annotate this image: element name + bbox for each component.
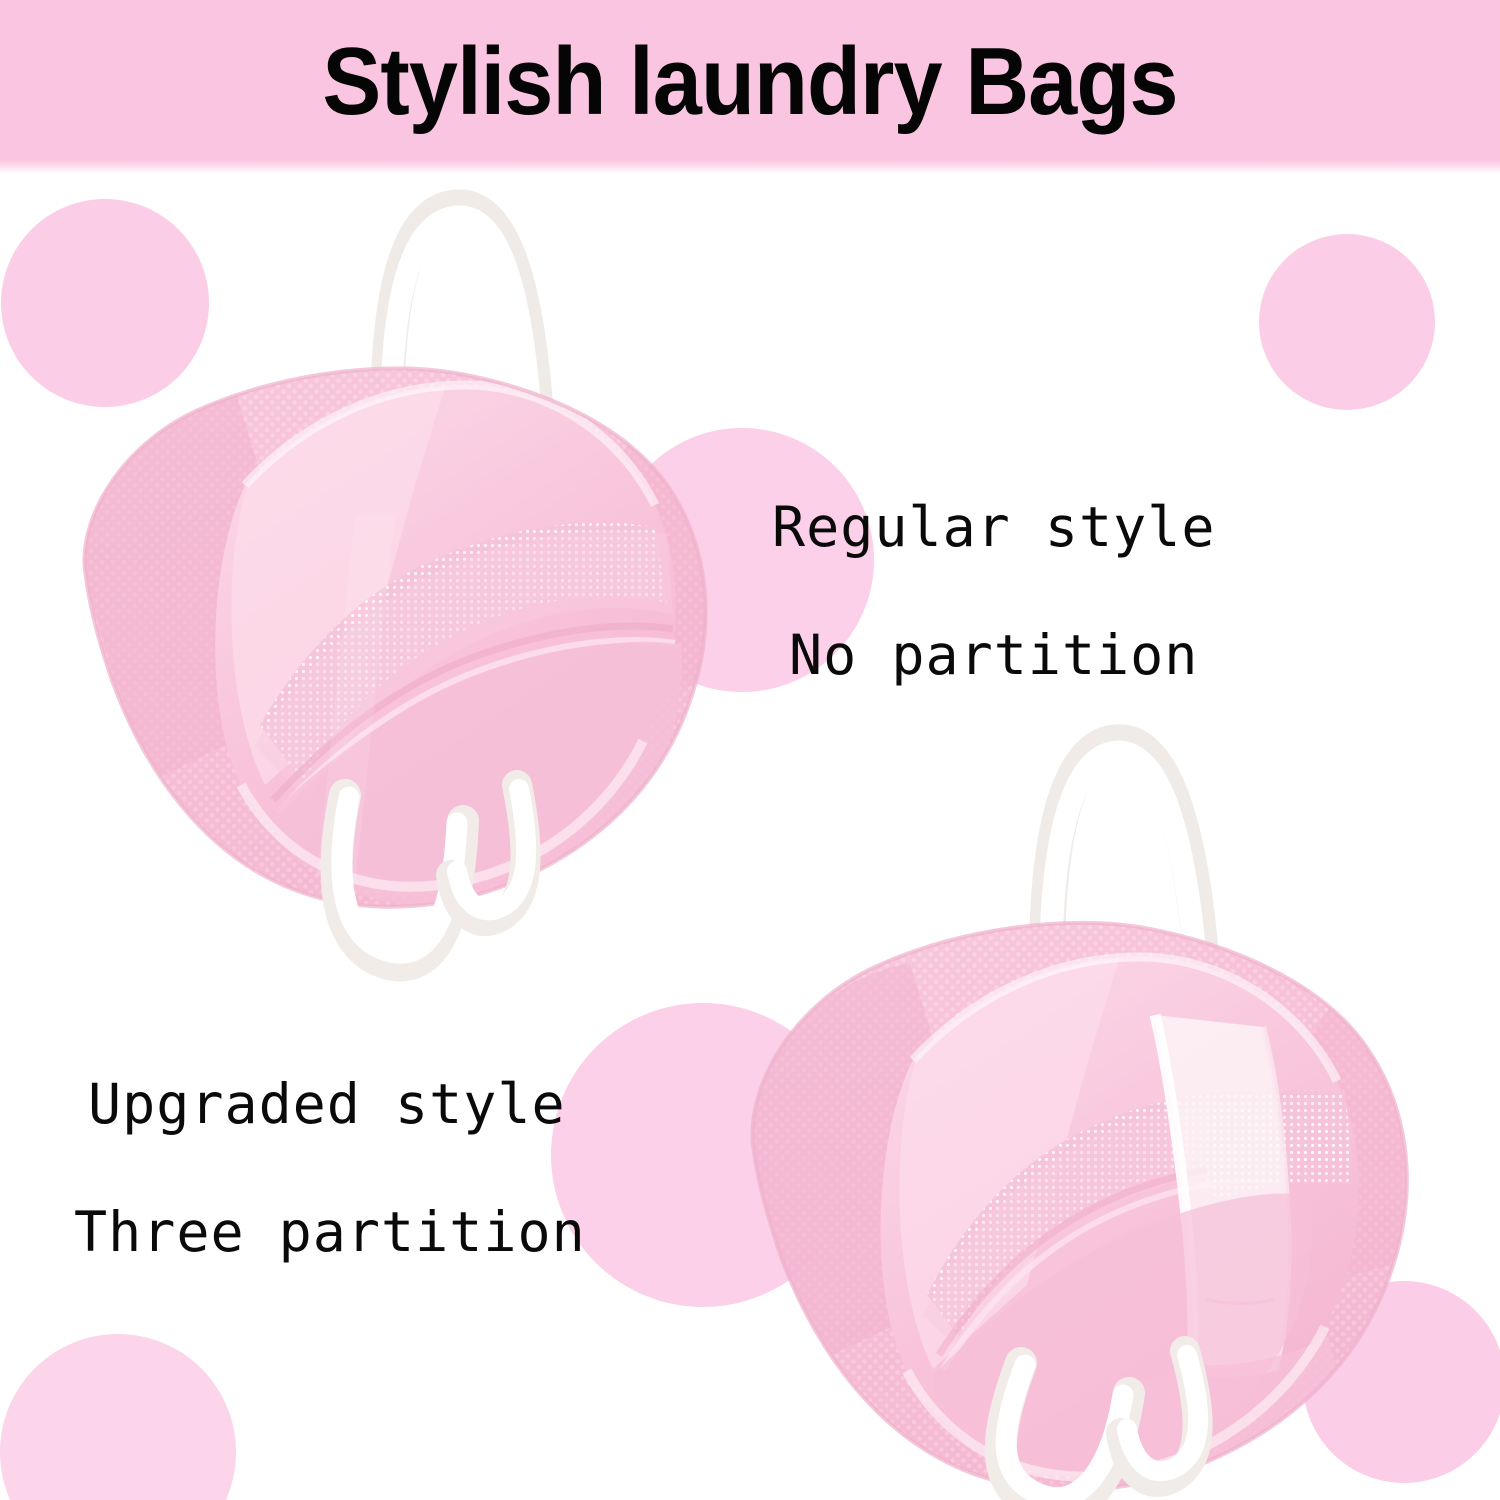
circle-top-right <box>1259 234 1435 410</box>
label-upgraded-line1: Upgraded style <box>88 1040 586 1168</box>
header-banner-fade <box>0 160 1500 174</box>
label-regular-line1: Regular style <box>772 463 1215 591</box>
product-image-upgraded <box>735 715 1455 1475</box>
label-regular: Regular style No partition <box>772 463 1215 719</box>
product-infographic: Stylish laundry Bags <box>0 0 1500 1500</box>
label-upgraded-line2: Three partition <box>74 1168 586 1296</box>
circle-bottom-left <box>0 1334 236 1500</box>
label-upgraded: Upgraded style Three partition <box>88 1040 586 1296</box>
product-image-regular <box>55 185 755 935</box>
page-title: Stylish laundry Bags <box>60 12 1440 152</box>
label-regular-line2: No partition <box>772 591 1215 719</box>
